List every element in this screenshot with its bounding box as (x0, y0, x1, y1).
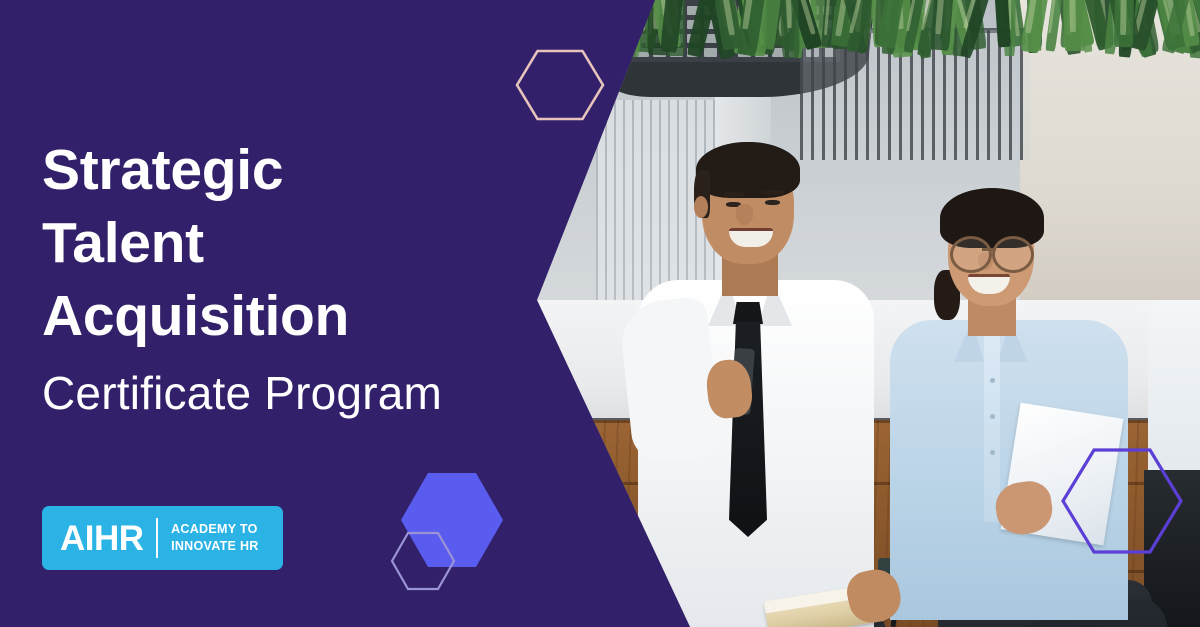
photo-person-1-arm (618, 296, 722, 464)
violet-hexagon-outline-icon (1060, 447, 1184, 555)
photo-person-2-eyeglasses (992, 236, 1034, 273)
aihr-logo-tagline-line-1: ACADEMY TO (171, 521, 259, 538)
photo-person-2-eyeglasses (950, 236, 992, 273)
photo-person-2-woman-with-glasses (872, 182, 1172, 627)
aihr-logo-wordmark: AIHR (60, 521, 144, 556)
aihr-logo-tagline-line-2: INNOVATE HR (171, 538, 259, 555)
page-title-line-1: Strategic (42, 134, 512, 207)
lavender-hexagon-outline-icon (390, 531, 456, 591)
page-subtitle: Certificate Program (42, 366, 442, 420)
page-title: Strategic Talent Acquisition (42, 134, 512, 353)
page-title-line-3: Acquisition (42, 280, 512, 353)
peach-hexagon-outline-icon (515, 49, 605, 121)
page-title-line-2: Talent (42, 207, 512, 280)
aihr-logo[interactable]: AIHR ACADEMY TO INNOVATE HR (42, 506, 283, 570)
aihr-logo-tagline: ACADEMY TO INNOVATE HR (171, 521, 259, 555)
aihr-logo-divider (156, 518, 159, 558)
photo-plant-leaf (991, 0, 1011, 47)
promo-banner: Strategic Talent Acquisition Certificate… (0, 0, 1200, 627)
